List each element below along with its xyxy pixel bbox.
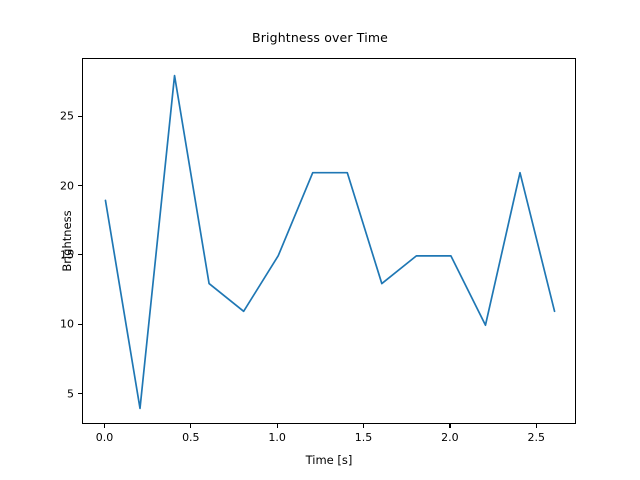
x-tick-label: 2.5: [528, 431, 546, 444]
y-tick-mark: [78, 324, 82, 325]
x-tick-mark: [363, 424, 364, 428]
y-tick-label: 25: [30, 110, 74, 123]
y-tick-label: 5: [30, 387, 74, 400]
x-axis-label: Time [s]: [82, 453, 576, 467]
y-axis-label: Brightness: [60, 181, 74, 301]
brightness-line: [105, 76, 554, 409]
x-tick-label: 1.5: [355, 431, 373, 444]
x-tick-mark: [536, 424, 537, 428]
y-tick-mark: [78, 393, 82, 394]
x-tick-label: 2.0: [441, 431, 459, 444]
y-tick-mark: [78, 116, 82, 117]
plot-axes-area: [82, 58, 576, 424]
x-tick-mark: [190, 424, 191, 428]
x-tick-mark: [277, 424, 278, 428]
x-tick-label: 0.5: [182, 431, 200, 444]
line-series-svg: [83, 59, 577, 425]
x-tick-label: 0.0: [96, 431, 114, 444]
x-tick-mark: [104, 424, 105, 428]
figure-canvas: Brightness over Time 510152025 0.00.51.0…: [0, 0, 640, 480]
y-tick-mark: [78, 254, 82, 255]
y-tick-mark: [78, 185, 82, 186]
y-tick-label: 10: [30, 318, 74, 331]
chart-title: Brightness over Time: [0, 30, 640, 45]
x-tick-mark: [449, 424, 450, 428]
x-tick-label: 1.0: [268, 431, 286, 444]
